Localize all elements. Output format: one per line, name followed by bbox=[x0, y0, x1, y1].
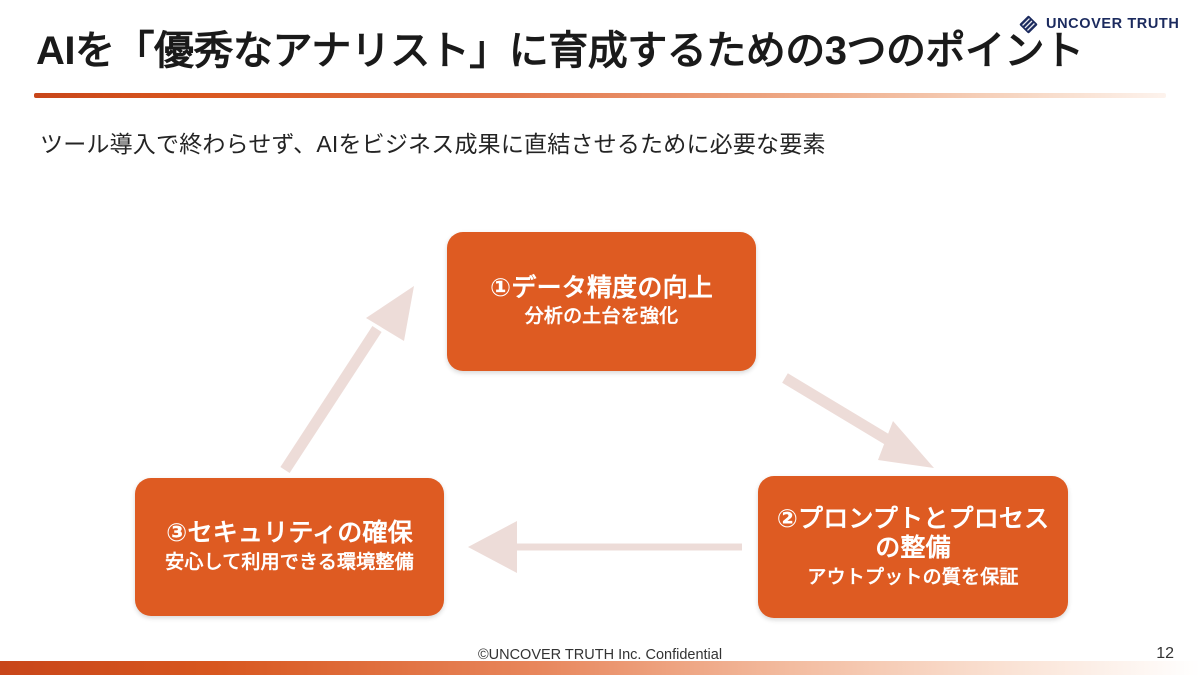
arrow-node2-to-node3 bbox=[468, 521, 742, 573]
arrow-node3-to-node1 bbox=[285, 286, 414, 470]
footer-accent-bar bbox=[0, 661, 1200, 675]
slide: UNCOVER TRUTH AIを「優秀なアナリスト」に育成するための3つのポイ… bbox=[0, 0, 1200, 675]
diagram-node-2-title: ②プロンプトとプロセス bbox=[777, 505, 1050, 535]
diagram-node-1-title: ①データ精度の向上 bbox=[490, 274, 713, 304]
cycle-diagram: ①データ精度の向上 分析の土台を強化 ②プロンプトとプロセス の整備 アウトプッ… bbox=[0, 0, 1200, 675]
diagram-node-1-subtitle: 分析の土台を強化 bbox=[525, 305, 679, 329]
diagram-node-3-subtitle: 安心して利用できる環境整備 bbox=[165, 551, 414, 575]
diagram-node-1[interactable]: ①データ精度の向上 分析の土台を強化 bbox=[447, 232, 756, 371]
arrow-node1-to-node2 bbox=[785, 378, 934, 468]
diagram-node-2-subtitle: アウトプットの質を保証 bbox=[807, 566, 1018, 590]
diagram-node-3[interactable]: ③セキュリティの確保 安心して利用できる環境整備 bbox=[135, 478, 444, 616]
diagram-node-2-title-line2: の整備 bbox=[875, 534, 951, 564]
diagram-node-3-title: ③セキュリティの確保 bbox=[166, 519, 413, 549]
diagram-node-2[interactable]: ②プロンプトとプロセス の整備 アウトプットの質を保証 bbox=[758, 476, 1068, 618]
